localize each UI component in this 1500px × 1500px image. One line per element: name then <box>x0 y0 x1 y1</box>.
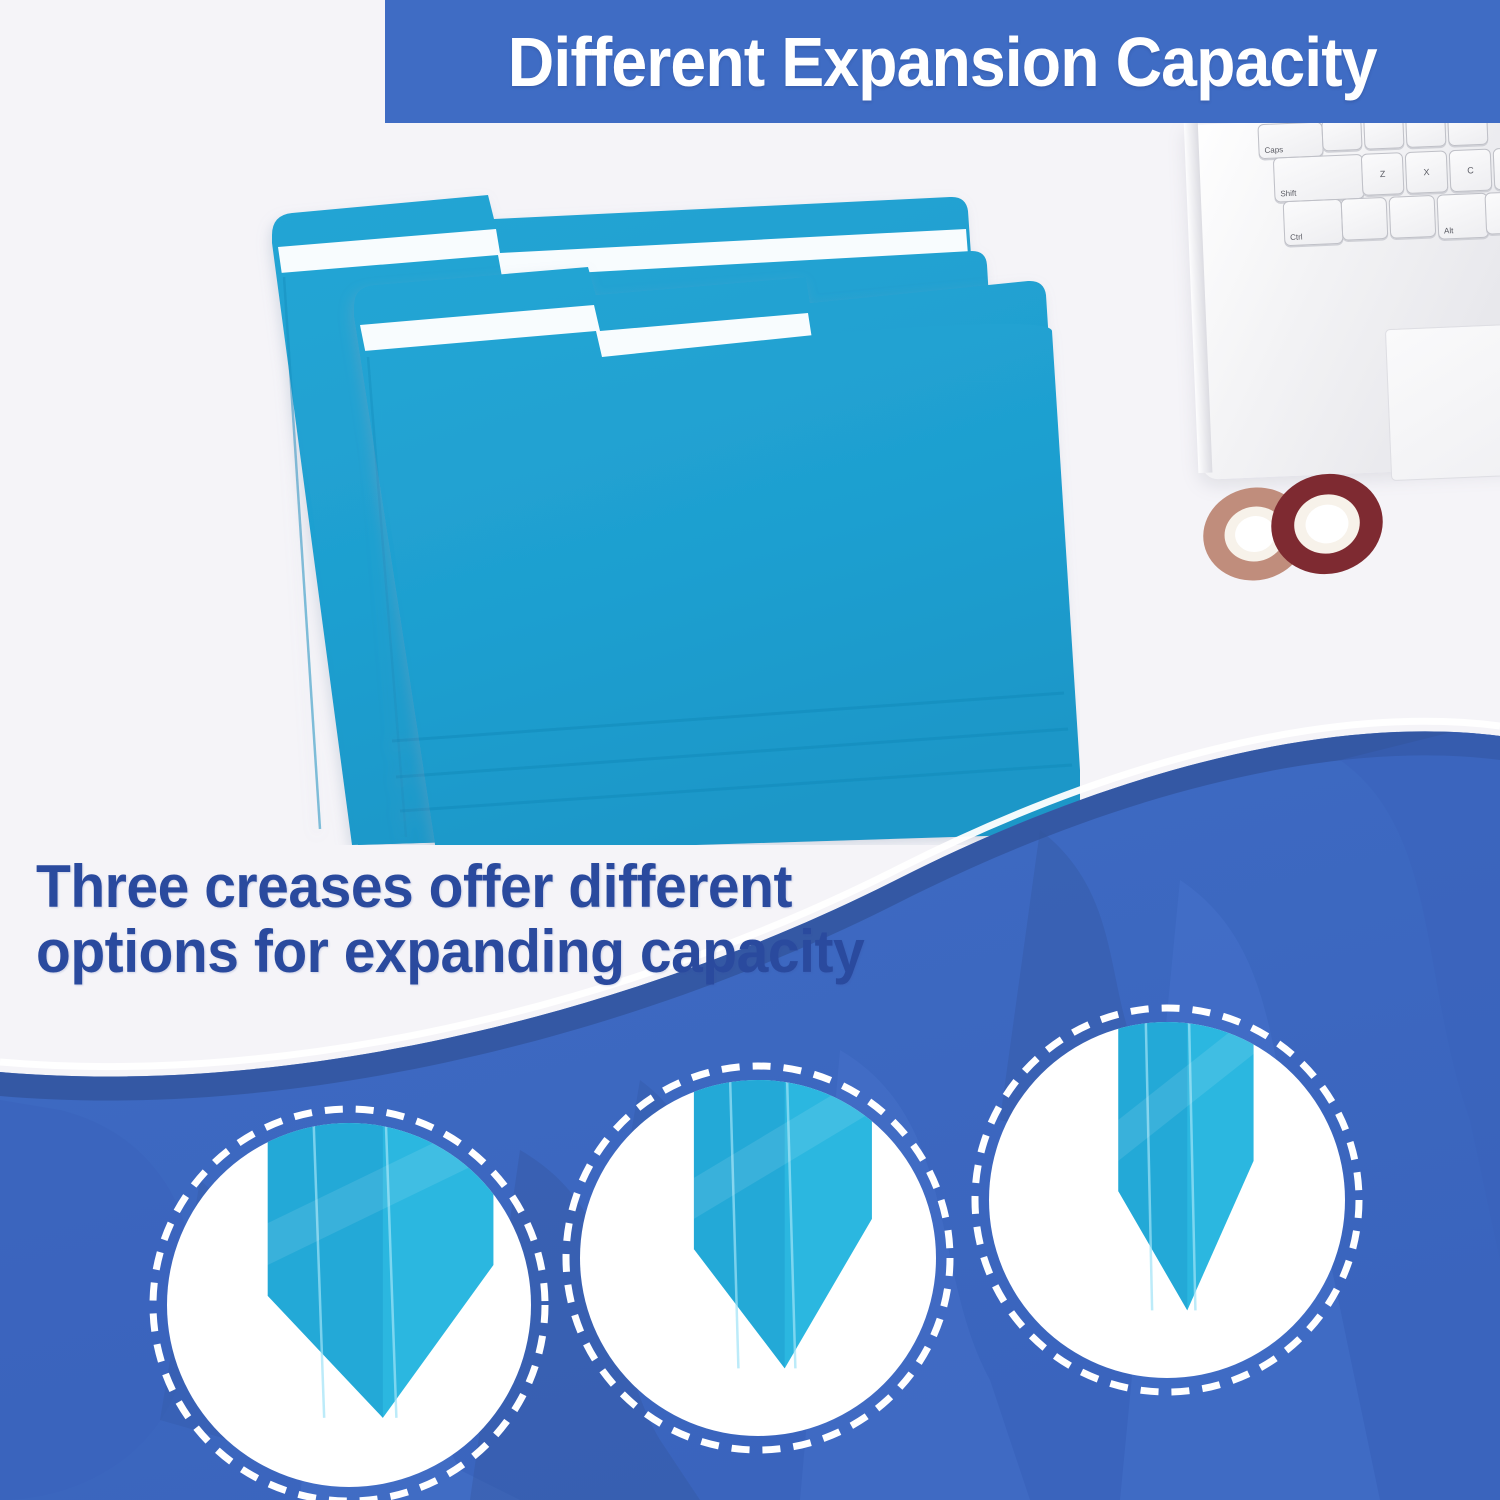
infographic-canvas: CapsShiftZXCCtrlAlt <box>0 0 1500 1500</box>
page-title: Different Expansion Capacity <box>508 22 1377 102</box>
caption-text: Three creases offer different options fo… <box>36 855 891 985</box>
caption-line-2: options for expanding capacity <box>36 920 891 985</box>
crease-detail-1 <box>153 1101 545 1500</box>
crease-detail-callouts <box>0 0 1500 1500</box>
crease-detail-3 <box>975 1001 1359 1392</box>
caption-line-1: Three creases offer different <box>36 855 891 920</box>
crease-detail-2 <box>566 1059 950 1450</box>
header-banner: Different Expansion Capacity <box>385 0 1500 123</box>
